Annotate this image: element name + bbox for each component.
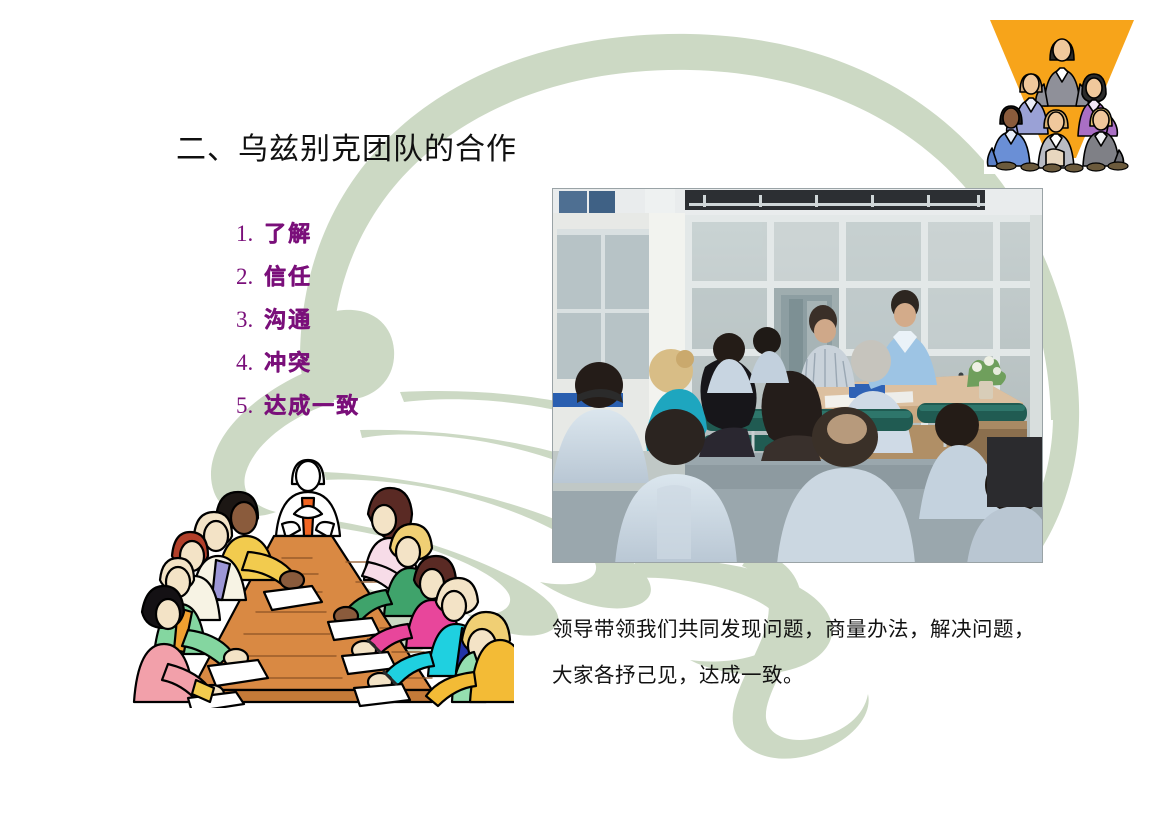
photo-caption: 领导带领我们共同发现问题，商量办法，解决问题， 大家各抒己见，达成一致。: [552, 607, 1082, 699]
list-item: 4. 冲突: [236, 345, 360, 388]
list-item-label: 沟通: [264, 302, 312, 334]
list-item-label: 冲突: [264, 345, 312, 377]
list-item-label: 信任: [264, 259, 312, 291]
slide-title: 二、乌兹别克团队的合作: [176, 130, 517, 170]
list-item-number: 2.: [236, 264, 264, 290]
caption-line-1: 领导带领我们共同发现问题，商量办法，解决问题，: [552, 607, 1082, 653]
list-item: 1. 了解: [236, 216, 360, 259]
list-item: 5. 达成一致: [236, 388, 360, 431]
meeting-photo: [552, 188, 1043, 563]
list-item-number: 5.: [236, 393, 264, 419]
list-item-number: 3.: [236, 307, 264, 333]
list-item-number: 1.: [236, 221, 264, 247]
list-item: 3. 沟通: [236, 302, 360, 345]
list-item-label: 了解: [264, 216, 312, 248]
list-item: 2. 信任: [236, 259, 360, 302]
numbered-point-list: 1. 了解 2. 信任 3. 沟通 4. 冲突 5. 达成一致: [236, 216, 360, 431]
caption-line-2: 大家各抒己见，达成一致。: [552, 653, 1082, 699]
slide-canvas: 二、乌兹别克团队的合作 1. 了解 2. 信任 3. 沟通 4. 冲突 5. 达…: [0, 0, 1169, 827]
conference-table-clipart: [132, 440, 514, 708]
list-item-number: 4.: [236, 350, 264, 376]
team-pyramid-clipart: [984, 14, 1140, 174]
list-item-label: 达成一致: [264, 388, 360, 420]
